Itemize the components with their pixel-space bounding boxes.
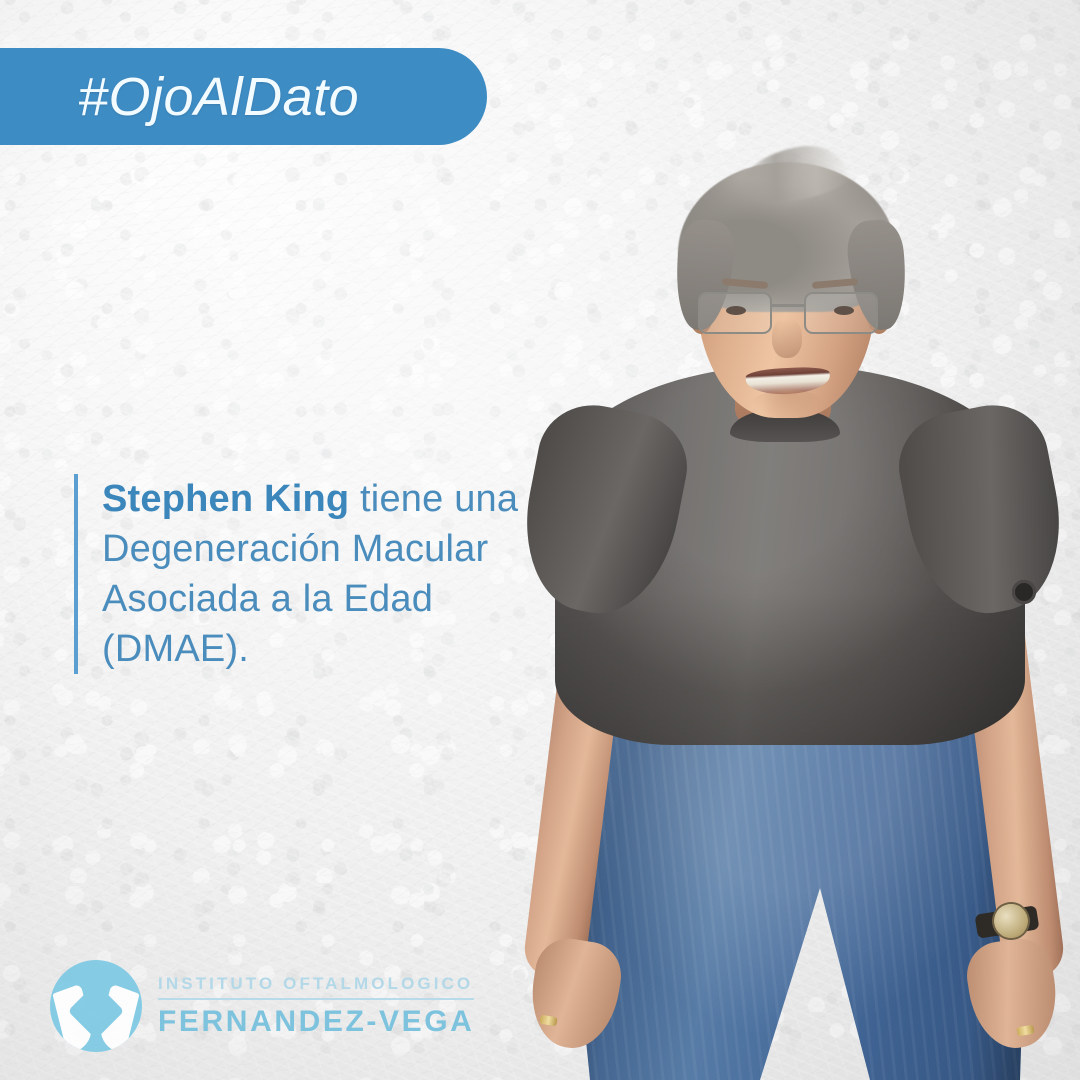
logo-divider bbox=[158, 998, 474, 1000]
subject-photo bbox=[500, 140, 1080, 1080]
hashtag-label: #OjoAlDato bbox=[0, 66, 359, 128]
logo-bottom-line: FERNANDEZ-VEGA bbox=[158, 1005, 474, 1039]
glasses-bridge bbox=[772, 304, 804, 307]
chin bbox=[750, 390, 826, 420]
logo-wordmark: INSTITUTO OFTALMOLOGICO FERNANDEZ-VEGA bbox=[158, 974, 474, 1039]
logo-top-line: INSTITUTO OFTALMOLOGICO bbox=[158, 974, 474, 994]
social-post-canvas: #OjoAlDato Stephen King tiene una Degene… bbox=[0, 0, 1080, 1080]
right-lens bbox=[804, 292, 878, 334]
headline-text: Stephen King tiene una Degeneración Macu… bbox=[102, 474, 544, 674]
sleeve-logo-patch bbox=[1012, 580, 1036, 604]
brand-logo: INSTITUTO OFTALMOLOGICO FERNANDEZ-VEGA bbox=[50, 960, 474, 1052]
headline-bold-text: Stephen King bbox=[102, 478, 349, 520]
left-lens bbox=[698, 292, 772, 334]
headline-block: Stephen King tiene una Degeneración Macu… bbox=[74, 474, 544, 674]
nose bbox=[772, 318, 802, 358]
hashtag-badge: #OjoAlDato bbox=[0, 48, 487, 145]
logo-emblem-icon bbox=[50, 960, 142, 1052]
